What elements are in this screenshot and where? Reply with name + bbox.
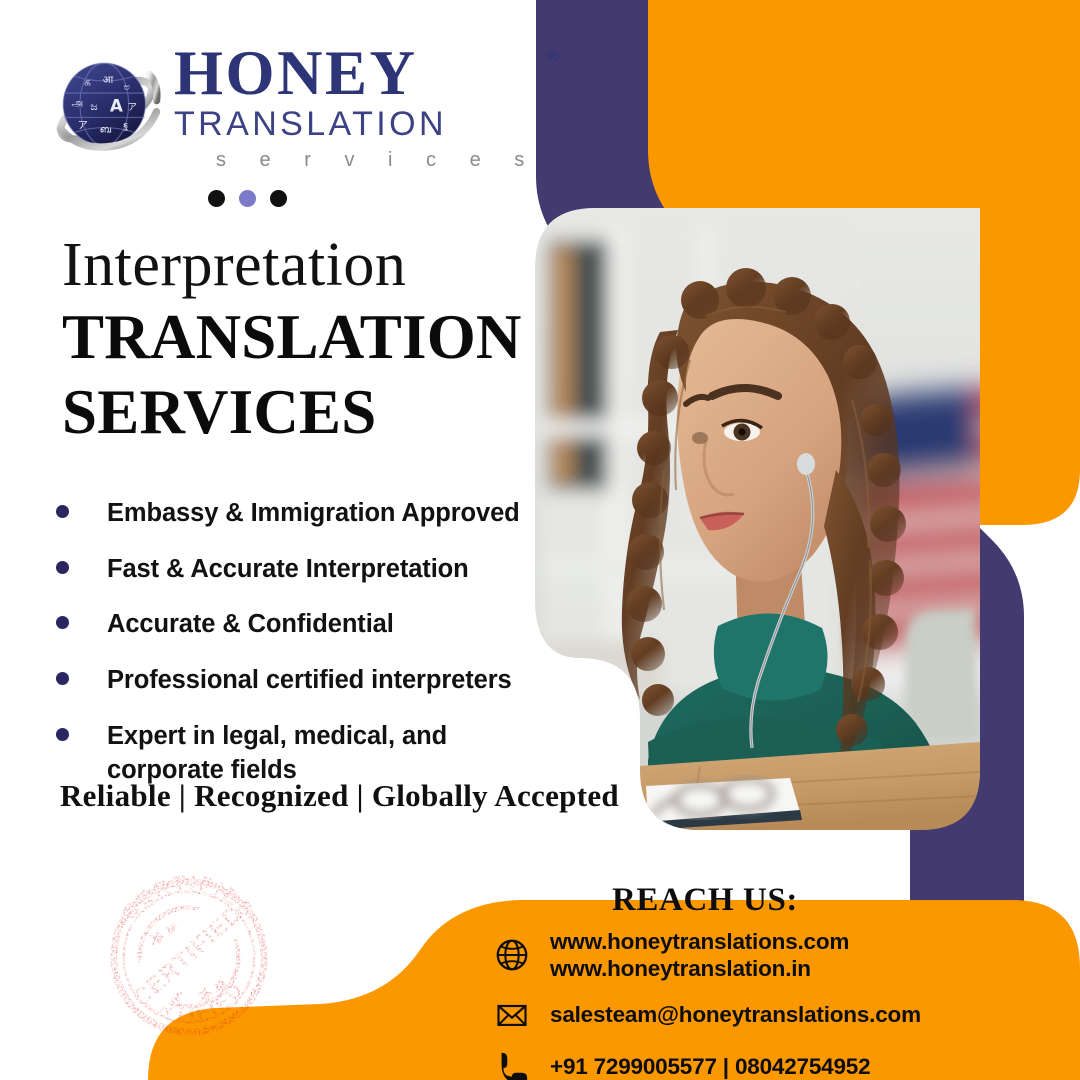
list-item: Accurate & Confidential: [56, 607, 576, 642]
logo-primary-name: HONEY: [174, 44, 418, 103]
list-item: Embassy & Immigration Approved: [56, 496, 576, 531]
svg-text:க: க: [84, 77, 91, 89]
hero-photo: [535, 208, 1010, 830]
headline-block: Interpretation TRANSLATION SERVICES: [62, 234, 532, 447]
svg-text:ಅ: ಅ: [124, 81, 130, 92]
tagline: Reliable | Recognized | Globally Accepte…: [60, 778, 619, 814]
bullet-dot-icon: [56, 561, 69, 574]
headline-script-line: Interpretation: [62, 234, 532, 296]
website-links[interactable]: www.honeytranslations.com www.honeytrans…: [550, 928, 849, 983]
envelope-icon: [492, 995, 532, 1035]
email-address[interactable]: salesteam@honeytranslations.com: [550, 1001, 921, 1028]
poster-canvas: க आ ಅ அ ಜ A ア ア ബ ฐ HONEY ® TRANSLATION …: [0, 0, 1080, 1080]
list-item-label: Embassy & Immigration Approved: [107, 496, 520, 531]
bullet-dot-icon: [56, 505, 69, 518]
decorative-dots: [208, 190, 287, 207]
svg-text:ア: ア: [128, 102, 137, 113]
logo-secondary-name: TRANSLATION: [174, 105, 538, 144]
bullet-dot-icon: [56, 616, 69, 629]
logo-tertiary-name: s e r v i c e s: [216, 149, 538, 172]
logo-wordmark: HONEY ® TRANSLATION s e r v i c e s: [174, 44, 538, 172]
svg-text:ബ: ബ: [100, 124, 111, 135]
headline-bold-line-2: SERVICES: [62, 379, 532, 446]
list-item: Fast & Accurate Interpretation: [56, 552, 576, 587]
contact-list: www.honeytranslations.com www.honeytrans…: [492, 928, 1052, 1080]
globe-logo-icon: க आ ಅ அ ಜ A ア ア ബ ฐ: [52, 52, 164, 164]
website-line-1[interactable]: www.honeytranslations.com: [550, 929, 849, 954]
dot-1: [208, 190, 225, 207]
dot-2: [239, 190, 256, 207]
list-item: Professional certified interpreters: [56, 663, 576, 698]
contact-row-website: www.honeytranslations.com www.honeytrans…: [492, 928, 1052, 983]
svg-text:ಜ: ಜ: [90, 100, 98, 113]
list-item-label: Accurate & Confidential: [107, 607, 394, 642]
svg-text:ア: ア: [78, 120, 88, 132]
contact-row-phone: +91 7299005577 | 08042754952: [492, 1047, 1052, 1080]
bullet-dot-icon: [56, 672, 69, 685]
certified-stamp-icon: CERTIFIED CERTIFIED: [100, 868, 278, 1046]
list-item-label: Professional certified interpreters: [107, 663, 512, 698]
registered-trademark-icon: ®: [546, 46, 560, 68]
website-line-2[interactable]: www.honeytranslation.in: [550, 956, 811, 981]
headline-bold-line-1: TRANSLATION: [62, 304, 532, 371]
brand-logo: க आ ಅ அ ಜ A ア ア ബ ฐ HONEY ® TRANSLATION …: [52, 44, 538, 172]
svg-text:ฐ: ฐ: [123, 121, 128, 132]
dot-3: [270, 190, 287, 207]
globe-icon: [492, 935, 532, 975]
svg-text:அ: அ: [71, 97, 82, 109]
reach-us-heading: REACH US:: [612, 882, 798, 919]
contact-row-email: salesteam@honeytranslations.com: [492, 995, 1052, 1035]
list-item-label: Fast & Accurate Interpretation: [107, 552, 469, 587]
phone-icon: [492, 1047, 532, 1080]
bullet-dot-icon: [56, 728, 69, 741]
svg-text:आ: आ: [103, 74, 114, 86]
svg-text:A: A: [110, 96, 123, 116]
phone-numbers[interactable]: +91 7299005577 | 08042754952: [550, 1053, 870, 1080]
feature-list: Embassy & Immigration Approved Fast & Ac…: [56, 496, 576, 809]
